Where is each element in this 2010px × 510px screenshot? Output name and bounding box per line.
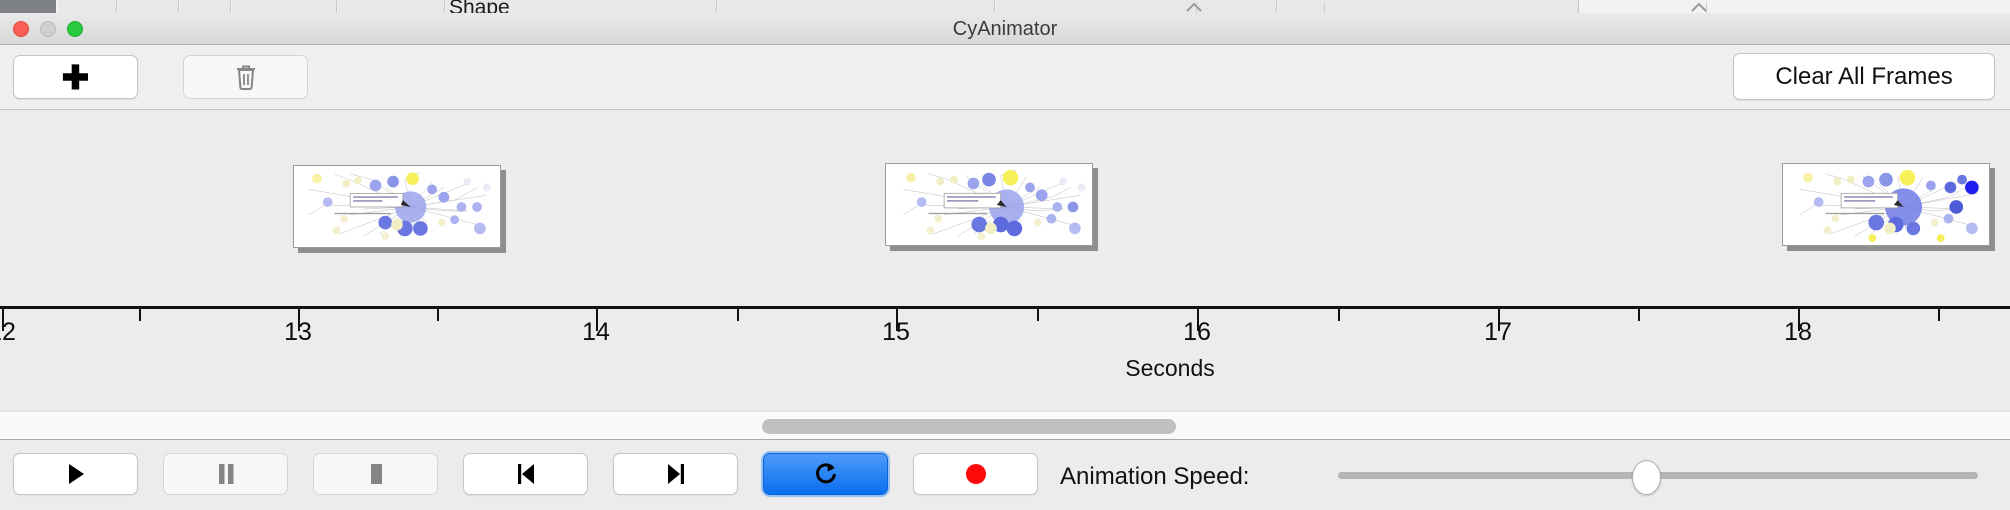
pause-button[interactable]: [163, 453, 288, 495]
axis-tick-label: 17: [1484, 318, 1512, 347]
delete-frame-button[interactable]: [183, 55, 308, 99]
frames-area: [0, 110, 2010, 306]
skip-forward-icon: [665, 462, 687, 486]
trash-icon: [234, 63, 258, 91]
skip-back-icon: [515, 462, 537, 486]
pause-icon: [216, 462, 236, 486]
frame-thumbnail[interactable]: [293, 165, 506, 253]
axis-tick-label: 12: [0, 318, 16, 347]
frame-image: [885, 163, 1093, 246]
stop-button[interactable]: [313, 453, 438, 495]
record-button[interactable]: [913, 453, 1038, 495]
axis-tick-minor: [737, 309, 739, 321]
axis-tick-label: 18: [1784, 318, 1812, 347]
cyanimator-window: Shape CyAnimator ✚ Clear All Fr: [0, 0, 2010, 510]
axis-tick-minor: [1638, 309, 1640, 321]
bg-chip: [338, 0, 445, 14]
axis-tick-minor: [1938, 309, 1940, 321]
frame-thumbnail[interactable]: [885, 163, 1098, 251]
axis-tick-minor: [1338, 309, 1340, 321]
axis-tick-minor: [437, 309, 439, 321]
bg-shape-label: Shape: [449, 0, 510, 14]
next-button[interactable]: [613, 453, 738, 495]
loop-icon: [814, 461, 838, 487]
add-frame-button[interactable]: ✚: [13, 55, 138, 99]
scrollbar-thumb[interactable]: [762, 419, 1176, 434]
axis-tick-label: 15: [882, 318, 910, 347]
frame-image: [1782, 163, 1990, 246]
loop-button[interactable]: [763, 453, 888, 495]
bg-chip: [180, 0, 231, 14]
stop-icon: [366, 462, 386, 486]
axis-tick-minor: [139, 309, 141, 321]
bg-chevron-icon: [1690, 1, 1708, 12]
page-title: CyAnimator: [0, 13, 2010, 45]
bg-chevron-icon: [1185, 1, 1203, 12]
playback-control-bar: Animation Speed:: [0, 441, 2010, 510]
play-button[interactable]: [13, 453, 138, 495]
timeline-panel: 12 13 14 15 16 17 18 Seconds: [0, 110, 2010, 410]
axis-tick-label: 16: [1183, 318, 1211, 347]
network-graph-icon: [294, 166, 500, 247]
background-window-strip: Shape: [0, 0, 2010, 14]
animation-speed-label: Animation Speed:: [1060, 463, 1249, 491]
axis-tick-label: 14: [582, 318, 610, 347]
toolbar: ✚ Clear All Frames: [0, 45, 2010, 110]
axis-caption: Seconds: [1125, 355, 1215, 382]
clear-all-frames-button[interactable]: Clear All Frames: [1733, 53, 1995, 100]
axis-tick-minor: [1037, 309, 1039, 321]
bg-chip: [718, 0, 995, 14]
bg-chip: [996, 0, 1277, 14]
bg-chip: [58, 0, 117, 14]
plus-icon: ✚: [62, 61, 90, 94]
previous-button[interactable]: [463, 453, 588, 495]
record-icon: [964, 462, 988, 486]
frame-thumbnail[interactable]: [1782, 163, 1995, 251]
bg-dark-chip: [0, 0, 56, 13]
network-graph-icon: [886, 164, 1092, 245]
frame-image: [293, 165, 501, 248]
play-icon: [66, 462, 86, 486]
axis-tick-label: 13: [284, 318, 312, 347]
animation-speed-thumb[interactable]: [1632, 460, 1661, 495]
network-graph-icon: [1783, 164, 1989, 245]
bg-chip: [232, 0, 337, 14]
timeline-scrollbar[interactable]: [0, 411, 2010, 440]
title-bar[interactable]: CyAnimator: [0, 13, 2010, 45]
bg-chip: [118, 0, 179, 14]
timeline-axis: [0, 306, 2010, 309]
